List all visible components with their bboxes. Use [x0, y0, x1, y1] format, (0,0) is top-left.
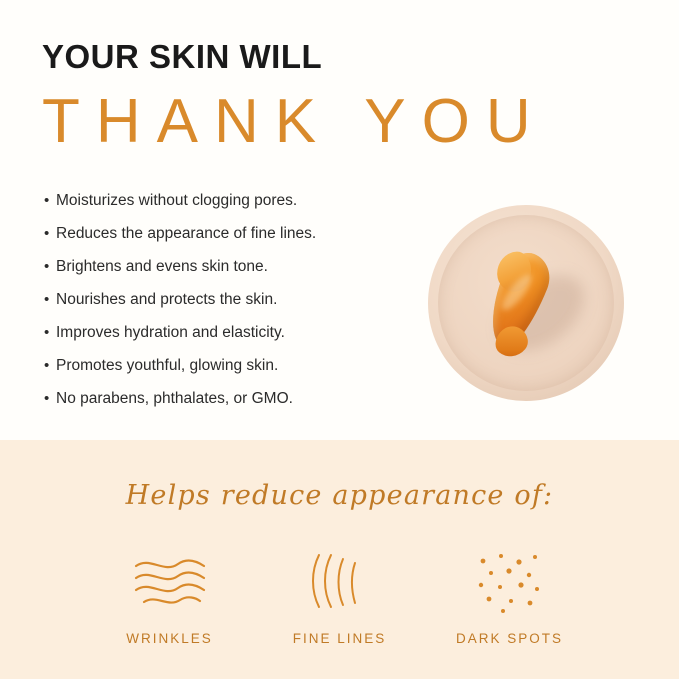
benefit-text: Reduces the appearance of fine lines. [56, 223, 316, 245]
list-item: • Reduces the appearance of fine lines. [44, 223, 444, 245]
poster-root: YOUR SKIN WILL THANK YOU • Moisturizes w… [0, 0, 679, 679]
bullet-dot-icon: • [44, 355, 56, 377]
list-item: • Nourishes and protects the skin. [44, 289, 444, 311]
headline-primary: YOUR SKIN WILL [42, 38, 322, 76]
list-item: • Improves hydration and elasticity. [44, 322, 444, 344]
benefit-text: Improves hydration and elasticity. [56, 322, 285, 344]
bullet-dot-icon: • [44, 388, 56, 410]
benefits-list: • Moisturizes without clogging pores. • … [44, 190, 444, 421]
bullet-dot-icon: • [44, 289, 56, 311]
benefit-icon-fine-lines: FINE LINES [255, 545, 425, 646]
list-item: • Brightens and evens skin tone. [44, 256, 444, 278]
bottom-section: Helps reduce appearance of: WRINKLES [0, 440, 679, 679]
bottom-heading: Helps reduce appearance of: [0, 480, 679, 511]
list-item: • No parabens, phthalates, or GMO. [44, 388, 444, 410]
list-item: • Moisturizes without clogging pores. [44, 190, 444, 212]
benefit-text: Promotes youthful, glowing skin. [56, 355, 278, 377]
bullet-dot-icon: • [44, 256, 56, 278]
top-section: YOUR SKIN WILL THANK YOU • Moisturizes w… [0, 0, 679, 440]
benefit-icons-row: WRINKLES FINE LINES [0, 545, 679, 646]
headline-secondary: THANK YOU [42, 86, 642, 157]
fine-lines-icon [255, 545, 425, 619]
benefit-text: No parabens, phthalates, or GMO. [56, 388, 293, 410]
benefit-text: Brightens and evens skin tone. [56, 256, 268, 278]
benefit-icon-dark-spots: DARK SPOTS [425, 545, 595, 646]
benefit-icon-label: FINE LINES [255, 631, 425, 646]
benefit-icon-label: DARK SPOTS [425, 631, 595, 646]
benefit-text: Moisturizes without clogging pores. [56, 190, 297, 212]
benefit-text: Nourishes and protects the skin. [56, 289, 277, 311]
product-photo [428, 205, 624, 401]
bullet-dot-icon: • [44, 190, 56, 212]
bullet-dot-icon: • [44, 322, 56, 344]
benefit-icon-wrinkles: WRINKLES [85, 545, 255, 646]
list-item: • Promotes youthful, glowing skin. [44, 355, 444, 377]
benefit-icon-label: WRINKLES [85, 631, 255, 646]
wavy-lines-icon [85, 545, 255, 619]
bullet-dot-icon: • [44, 223, 56, 245]
dark-spots-icon [425, 545, 595, 619]
